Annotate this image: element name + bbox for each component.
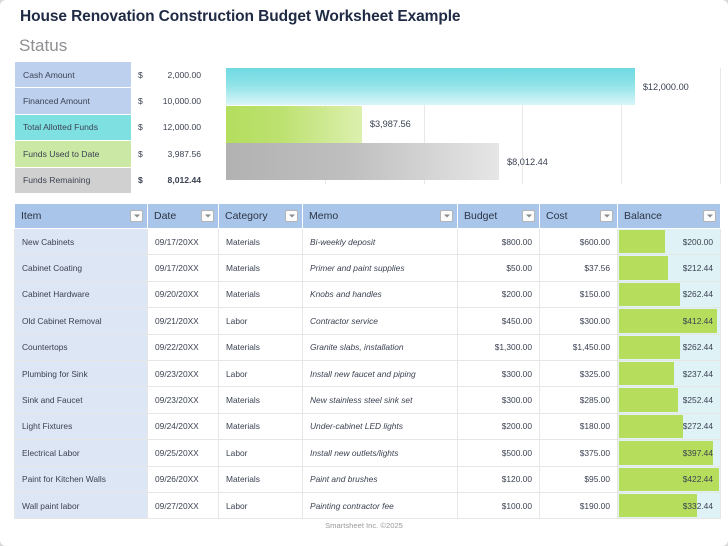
cell-memo: Under-cabinet LED lights <box>303 413 458 439</box>
chart-bar <box>226 68 635 105</box>
status-summary-table: Cash Amount$2,000.00Financed Amount$10,0… <box>14 61 211 194</box>
cell-memo: New stainless steel sink set <box>303 387 458 413</box>
column-header-label: Date <box>154 210 176 222</box>
column-header-budget[interactable]: Budget <box>458 204 540 229</box>
cell-cost: $190.00 <box>540 492 618 518</box>
status-row: Funds Used to Date$3,987.56 <box>15 141 211 167</box>
cell-memo: Contractor service <box>303 308 458 334</box>
status-row: Cash Amount$2,000.00 <box>15 62 211 88</box>
column-header-item[interactable]: Item <box>15 204 148 229</box>
cell-balance: $412.44 <box>618 308 721 334</box>
cell-item: Old Cabinet Removal <box>15 308 148 334</box>
balance-value: $412.44 <box>683 316 713 326</box>
cell-budget: $450.00 <box>458 308 540 334</box>
cell-budget: $200.00 <box>458 281 540 307</box>
worksheet-page: House Renovation Construction Budget Wor… <box>0 0 728 546</box>
filter-dropdown-icon[interactable] <box>130 210 143 222</box>
cell-balance: $397.44 <box>618 440 721 466</box>
column-header-label: Budget <box>464 210 497 222</box>
cell-cost: $150.00 <box>540 281 618 307</box>
cell-balance: $262.44 <box>618 281 721 307</box>
cell-category: Materials <box>219 255 303 281</box>
balance-data-bar <box>619 230 665 253</box>
cell-balance: $422.44 <box>618 466 721 492</box>
column-header-balance[interactable]: Balance <box>618 204 721 229</box>
balance-value: $237.44 <box>683 369 713 379</box>
filter-dropdown-icon[interactable] <box>703 210 716 222</box>
cell-date: 09/24/20XX <box>148 413 219 439</box>
column-header-cost[interactable]: Cost <box>540 204 618 229</box>
cell-date: 09/17/20XX <box>148 255 219 281</box>
cell-budget: $200.00 <box>458 413 540 439</box>
cell-item: Wall paint labor <box>15 492 148 518</box>
status-row: Financed Amount$10,000.00 <box>15 88 211 114</box>
cell-item: Sink and Faucet <box>15 387 148 413</box>
cell-cost: $1,450.00 <box>540 334 618 360</box>
balance-value: $262.44 <box>683 289 713 299</box>
cell-date: 09/22/20XX <box>148 334 219 360</box>
balance-data-bar <box>619 415 683 438</box>
cell-item: Cabinet Coating <box>15 255 148 281</box>
balance-data-bar <box>619 256 668 279</box>
cell-date: 09/20/20XX <box>148 281 219 307</box>
table-row[interactable]: New Cabinets09/17/20XXMaterialsBi-weekly… <box>15 229 721 255</box>
balance-value: $397.44 <box>683 448 713 458</box>
cell-memo: Paint and brushes <box>303 466 458 492</box>
cell-date: 09/27/20XX <box>148 492 219 518</box>
cell-cost: $37.56 <box>540 255 618 281</box>
cell-item: Plumbing for Sink <box>15 360 148 386</box>
column-header-memo[interactable]: Memo <box>303 204 458 229</box>
filter-dropdown-icon[interactable] <box>522 210 535 222</box>
page-title: House Renovation Construction Budget Wor… <box>20 8 460 26</box>
status-row-label: Cash Amount <box>15 62 132 88</box>
chart-bar <box>226 106 362 143</box>
status-row-value: 8,012.44 <box>150 167 211 193</box>
cell-item: Light Fixtures <box>15 413 148 439</box>
status-row-value: 2,000.00 <box>150 62 211 88</box>
cell-budget: $300.00 <box>458 387 540 413</box>
column-header-date[interactable]: Date <box>148 204 219 229</box>
cell-budget: $800.00 <box>458 229 540 255</box>
balance-data-bar <box>619 388 678 411</box>
status-row-currency: $ <box>132 62 150 88</box>
cell-balance: $200.00 <box>618 229 721 255</box>
balance-data-bar <box>619 362 674 385</box>
status-row-value: 12,000.00 <box>150 114 211 140</box>
status-row-label: Funds Remaining <box>15 167 132 193</box>
chart-bar-label: $12,000.00 <box>643 82 689 92</box>
table-row[interactable]: Plumbing for Sink09/23/20XXLaborInstall … <box>15 360 721 386</box>
cell-category: Labor <box>219 360 303 386</box>
cell-budget: $50.00 <box>458 255 540 281</box>
cell-memo: Install new faucet and piping <box>303 360 458 386</box>
chart-gridline <box>720 68 721 184</box>
cell-budget: $100.00 <box>458 492 540 518</box>
cell-memo: Granite slabs, installation <box>303 334 458 360</box>
cell-cost: $600.00 <box>540 229 618 255</box>
cell-memo: Knobs and handles <box>303 281 458 307</box>
cell-budget: $1,300.00 <box>458 334 540 360</box>
balance-value: $252.44 <box>683 395 713 405</box>
status-row-label: Financed Amount <box>15 88 132 114</box>
column-header-label: Balance <box>624 210 662 222</box>
balance-data-bar <box>619 283 680 306</box>
filter-dropdown-icon[interactable] <box>285 210 298 222</box>
cell-item: Countertops <box>15 334 148 360</box>
cell-category: Materials <box>219 334 303 360</box>
balance-value: $212.44 <box>683 263 713 273</box>
chart-bar <box>226 143 499 180</box>
cell-memo: Primer and paint supplies <box>303 255 458 281</box>
cell-budget: $120.00 <box>458 466 540 492</box>
cell-category: Labor <box>219 492 303 518</box>
cell-date: 09/17/20XX <box>148 229 219 255</box>
cell-balance: $237.44 <box>618 360 721 386</box>
footer-credit: Smartsheet Inc. ©2025 <box>0 521 728 530</box>
cell-category: Labor <box>219 308 303 334</box>
chart-bar-label: $8,012.44 <box>507 157 548 167</box>
budget-line-items-table: ItemDateCategoryMemoBudgetCostBalance Ne… <box>14 203 721 519</box>
column-header-label: Memo <box>309 210 338 222</box>
chart-bar-row: $12,000.00 <box>226 68 720 105</box>
filter-dropdown-icon[interactable] <box>600 210 613 222</box>
status-row-currency: $ <box>132 167 150 193</box>
table-row[interactable]: Cabinet Hardware09/20/20XXMaterialsKnobs… <box>15 281 721 307</box>
balance-value: $200.00 <box>683 237 713 247</box>
cell-item: New Cabinets <box>15 229 148 255</box>
cell-memo: Install new outlets/lights <box>303 440 458 466</box>
chart-bar-row: $3,987.56 <box>226 106 720 143</box>
filter-dropdown-icon[interactable] <box>201 210 214 222</box>
column-header-label: Item <box>21 210 41 222</box>
status-row-label: Funds Used to Date <box>15 141 132 167</box>
cell-item: Electrical Labor <box>15 440 148 466</box>
cell-balance: $332.44 <box>618 492 721 518</box>
cell-category: Materials <box>219 281 303 307</box>
chart-bar-label: $3,987.56 <box>370 119 411 129</box>
cell-cost: $95.00 <box>540 466 618 492</box>
status-row-value: 3,987.56 <box>150 141 211 167</box>
cell-balance: $252.44 <box>618 387 721 413</box>
status-row-currency: $ <box>132 114 150 140</box>
table-row[interactable]: Old Cabinet Removal09/21/20XXLaborContra… <box>15 308 721 334</box>
column-header-label: Category <box>225 210 268 222</box>
cell-cost: $300.00 <box>540 308 618 334</box>
cell-memo: Painting contractor fee <box>303 492 458 518</box>
cell-balance: $272.44 <box>618 413 721 439</box>
cell-cost: $285.00 <box>540 387 618 413</box>
cell-date: 09/25/20XX <box>148 440 219 466</box>
cell-cost: $325.00 <box>540 360 618 386</box>
cell-balance: $212.44 <box>618 255 721 281</box>
table-header-row: ItemDateCategoryMemoBudgetCostBalance <box>15 204 721 229</box>
cell-date: 09/23/20XX <box>148 387 219 413</box>
status-row-currency: $ <box>132 141 150 167</box>
status-row-label: Total Allotted Funds <box>15 114 132 140</box>
table-row[interactable]: Wall paint labor09/27/20XXLaborPainting … <box>15 492 721 518</box>
funds-bar-chart: $12,000.00$3,987.56$8,012.44 <box>226 62 720 190</box>
balance-value: $262.44 <box>683 342 713 352</box>
table-row[interactable]: Cabinet Coating09/17/20XXMaterialsPrimer… <box>15 255 721 281</box>
cell-date: 09/23/20XX <box>148 360 219 386</box>
cell-item: Paint for Kitchen Walls <box>15 466 148 492</box>
cell-category: Materials <box>219 387 303 413</box>
balance-value: $422.44 <box>683 474 713 484</box>
table-row[interactable]: Paint for Kitchen Walls09/26/20XXMateria… <box>15 466 721 492</box>
table-row[interactable]: Sink and Faucet09/23/20XXMaterialsNew st… <box>15 387 721 413</box>
cell-budget: $500.00 <box>458 440 540 466</box>
cell-balance: $262.44 <box>618 334 721 360</box>
cell-category: Materials <box>219 466 303 492</box>
cell-cost: $375.00 <box>540 440 618 466</box>
table-row[interactable]: Light Fixtures09/24/20XXMaterialsUnder-c… <box>15 413 721 439</box>
cell-item: Cabinet Hardware <box>15 281 148 307</box>
cell-date: 09/26/20XX <box>148 466 219 492</box>
cell-date: 09/21/20XX <box>148 308 219 334</box>
table-row[interactable]: Electrical Labor09/25/20XXLaborInstall n… <box>15 440 721 466</box>
cell-memo: Bi-weekly deposit <box>303 229 458 255</box>
column-header-label: Cost <box>546 210 568 222</box>
balance-value: $272.44 <box>683 421 713 431</box>
status-row-value: 10,000.00 <box>150 88 211 114</box>
status-row: Total Allotted Funds$12,000.00 <box>15 114 211 140</box>
filter-dropdown-icon[interactable] <box>440 210 453 222</box>
cell-category: Labor <box>219 440 303 466</box>
status-row-currency: $ <box>132 88 150 114</box>
column-header-category[interactable]: Category <box>219 204 303 229</box>
cell-budget: $300.00 <box>458 360 540 386</box>
chart-bar-row: $8,012.44 <box>226 143 720 180</box>
status-row: Funds Remaining$8,012.44 <box>15 167 211 193</box>
cell-cost: $180.00 <box>540 413 618 439</box>
table-row[interactable]: Countertops09/22/20XXMaterialsGranite sl… <box>15 334 721 360</box>
status-heading: Status <box>19 36 67 56</box>
balance-value: $332.44 <box>683 501 713 511</box>
cell-category: Materials <box>219 413 303 439</box>
balance-data-bar <box>619 336 680 359</box>
cell-category: Materials <box>219 229 303 255</box>
